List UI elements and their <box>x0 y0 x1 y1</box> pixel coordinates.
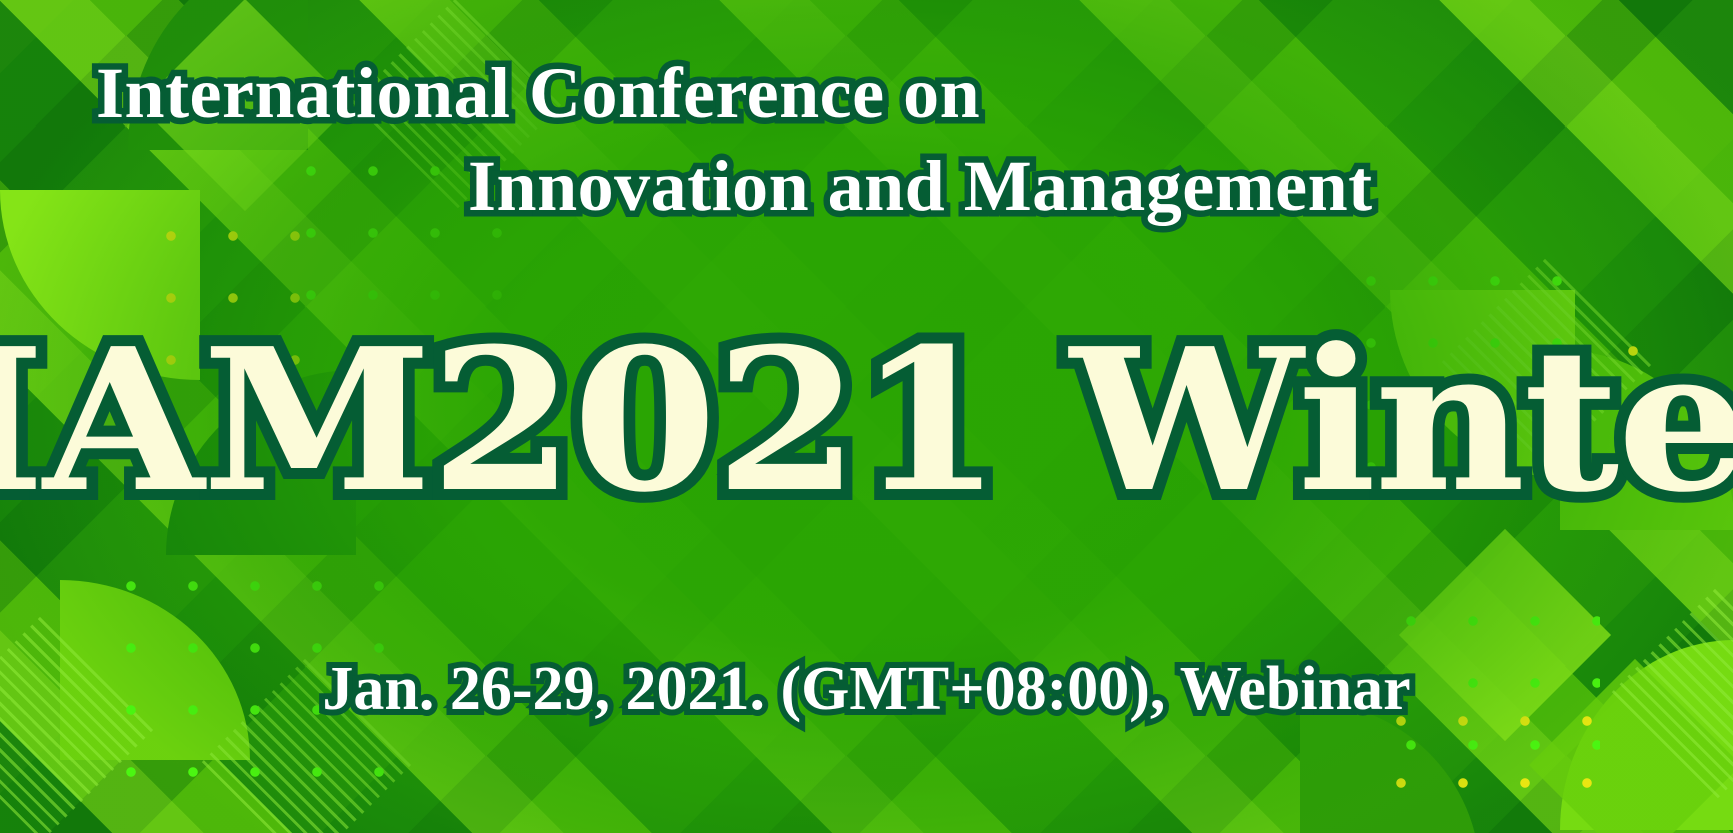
banner-content: International Conference on Innovation a… <box>0 0 1733 833</box>
conference-banner: International Conference on Innovation a… <box>0 0 1733 833</box>
conference-headline-line-1: International Conference on <box>96 52 1733 135</box>
conference-headline-line-2: Innovation and Management <box>468 145 1733 228</box>
event-title: IAM2021 Winter <box>0 322 1733 522</box>
event-date-timezone-venue: Jan. 26-29, 2021. (GMT+08:00), Webinar <box>0 654 1733 725</box>
